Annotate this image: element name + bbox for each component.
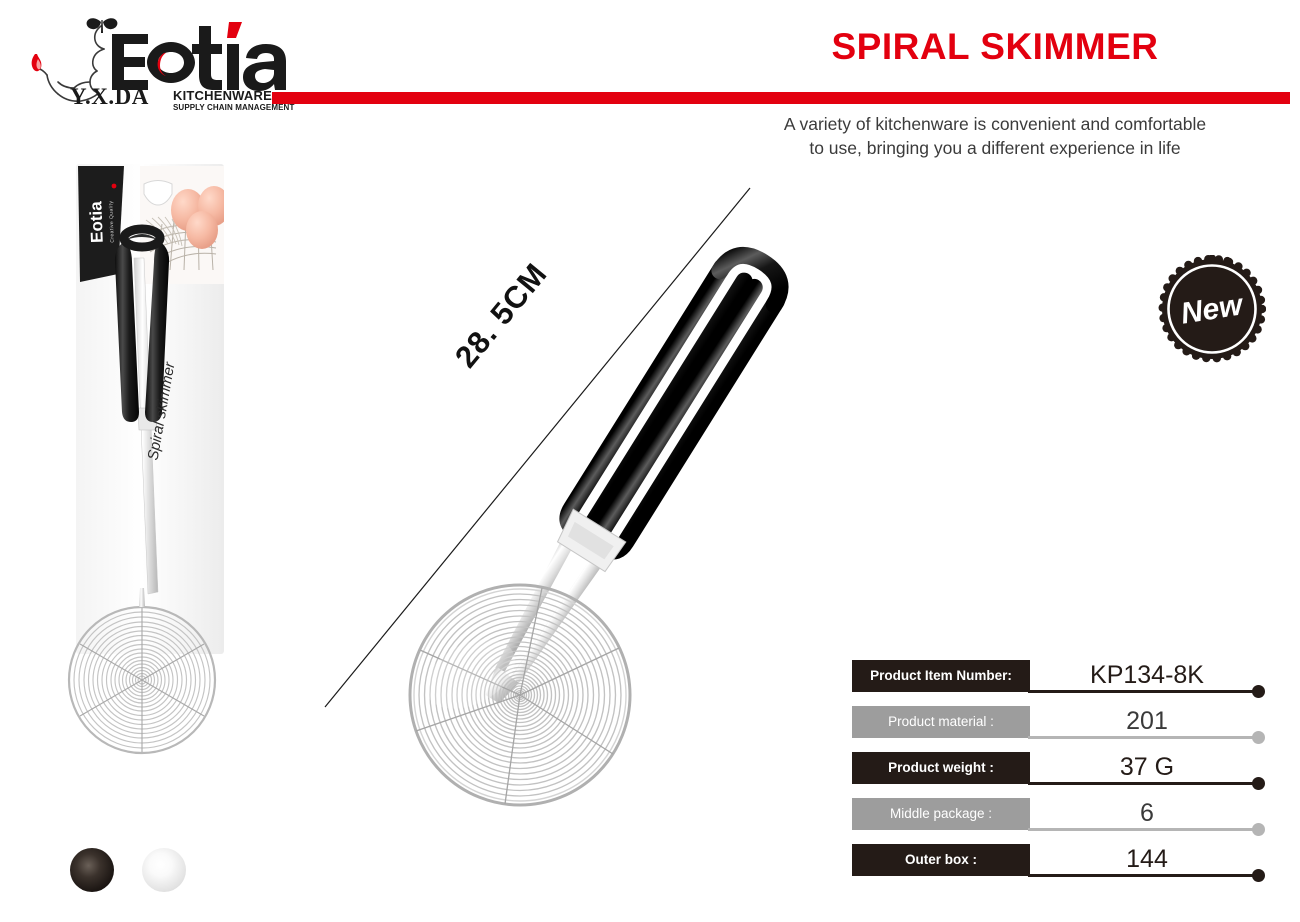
spec-row-middle-package: Middle package : 6 [852, 798, 1264, 844]
page-title: SPIRAL SKIMMER [700, 26, 1290, 68]
spec-dot [1252, 823, 1265, 836]
spec-line [1028, 828, 1258, 831]
svg-text:Y.X.DA: Y.X.DA [70, 84, 149, 109]
new-badge: New [1158, 255, 1266, 363]
spec-dot [1252, 685, 1265, 698]
spec-line [1028, 782, 1258, 785]
package-card-brand: Eotia [86, 201, 106, 244]
spec-value-middle-package: 6 [1030, 796, 1264, 830]
spec-dot [1252, 731, 1265, 744]
spec-label-middle-package: Middle package : [852, 798, 1030, 830]
spec-value-material: 201 [1030, 704, 1264, 738]
svg-text:KITCHENWARE: KITCHENWARE [173, 88, 272, 103]
spec-value-outer-box: 144 [1030, 842, 1264, 876]
color-swatch-group [70, 848, 186, 892]
spec-value-weight: 37 G [1030, 750, 1264, 784]
spec-row-material: Product material : 201 [852, 706, 1264, 752]
product-datasheet-page: Y.X.DA KITCHENWARE SUPPLY CHAIN MANAGEME… [0, 0, 1300, 922]
brand-logo: Y.X.DA KITCHENWARE SUPPLY CHAIN MANAGEME… [8, 8, 298, 116]
color-swatch-silver[interactable] [142, 848, 186, 892]
specification-table: Product Item Number: KP134-8K Product ma… [852, 660, 1264, 890]
spec-dot [1252, 777, 1265, 790]
header-divider [272, 92, 1290, 104]
color-swatch-black[interactable] [70, 848, 114, 892]
spec-label-item-number: Product Item Number: [852, 660, 1030, 692]
spec-row-weight: Product weight : 37 G [852, 752, 1264, 798]
packaged-product-image: Eotia Creative Quality [62, 162, 224, 822]
spec-row-outer-box: Outer box : 144 [852, 844, 1264, 890]
spec-value-item-number: KP134-8K [1030, 658, 1264, 692]
spec-label-outer-box: Outer box : [852, 844, 1030, 876]
spec-line [1028, 874, 1258, 877]
spec-label-weight: Product weight : [852, 752, 1030, 784]
tagline-line-2: to use, bringing you a different experie… [700, 136, 1290, 160]
tagline-line-1: A variety of kitchenware is convenient a… [784, 114, 1206, 134]
spec-row-item-number: Product Item Number: KP134-8K [852, 660, 1264, 706]
spec-dot [1252, 869, 1265, 882]
spec-label-material: Product material : [852, 706, 1030, 738]
spec-line [1028, 736, 1258, 739]
svg-text:SUPPLY CHAIN MANAGEMENT: SUPPLY CHAIN MANAGEMENT [173, 103, 294, 112]
tagline: A variety of kitchenware is convenient a… [700, 112, 1290, 160]
spec-line [1028, 690, 1258, 693]
